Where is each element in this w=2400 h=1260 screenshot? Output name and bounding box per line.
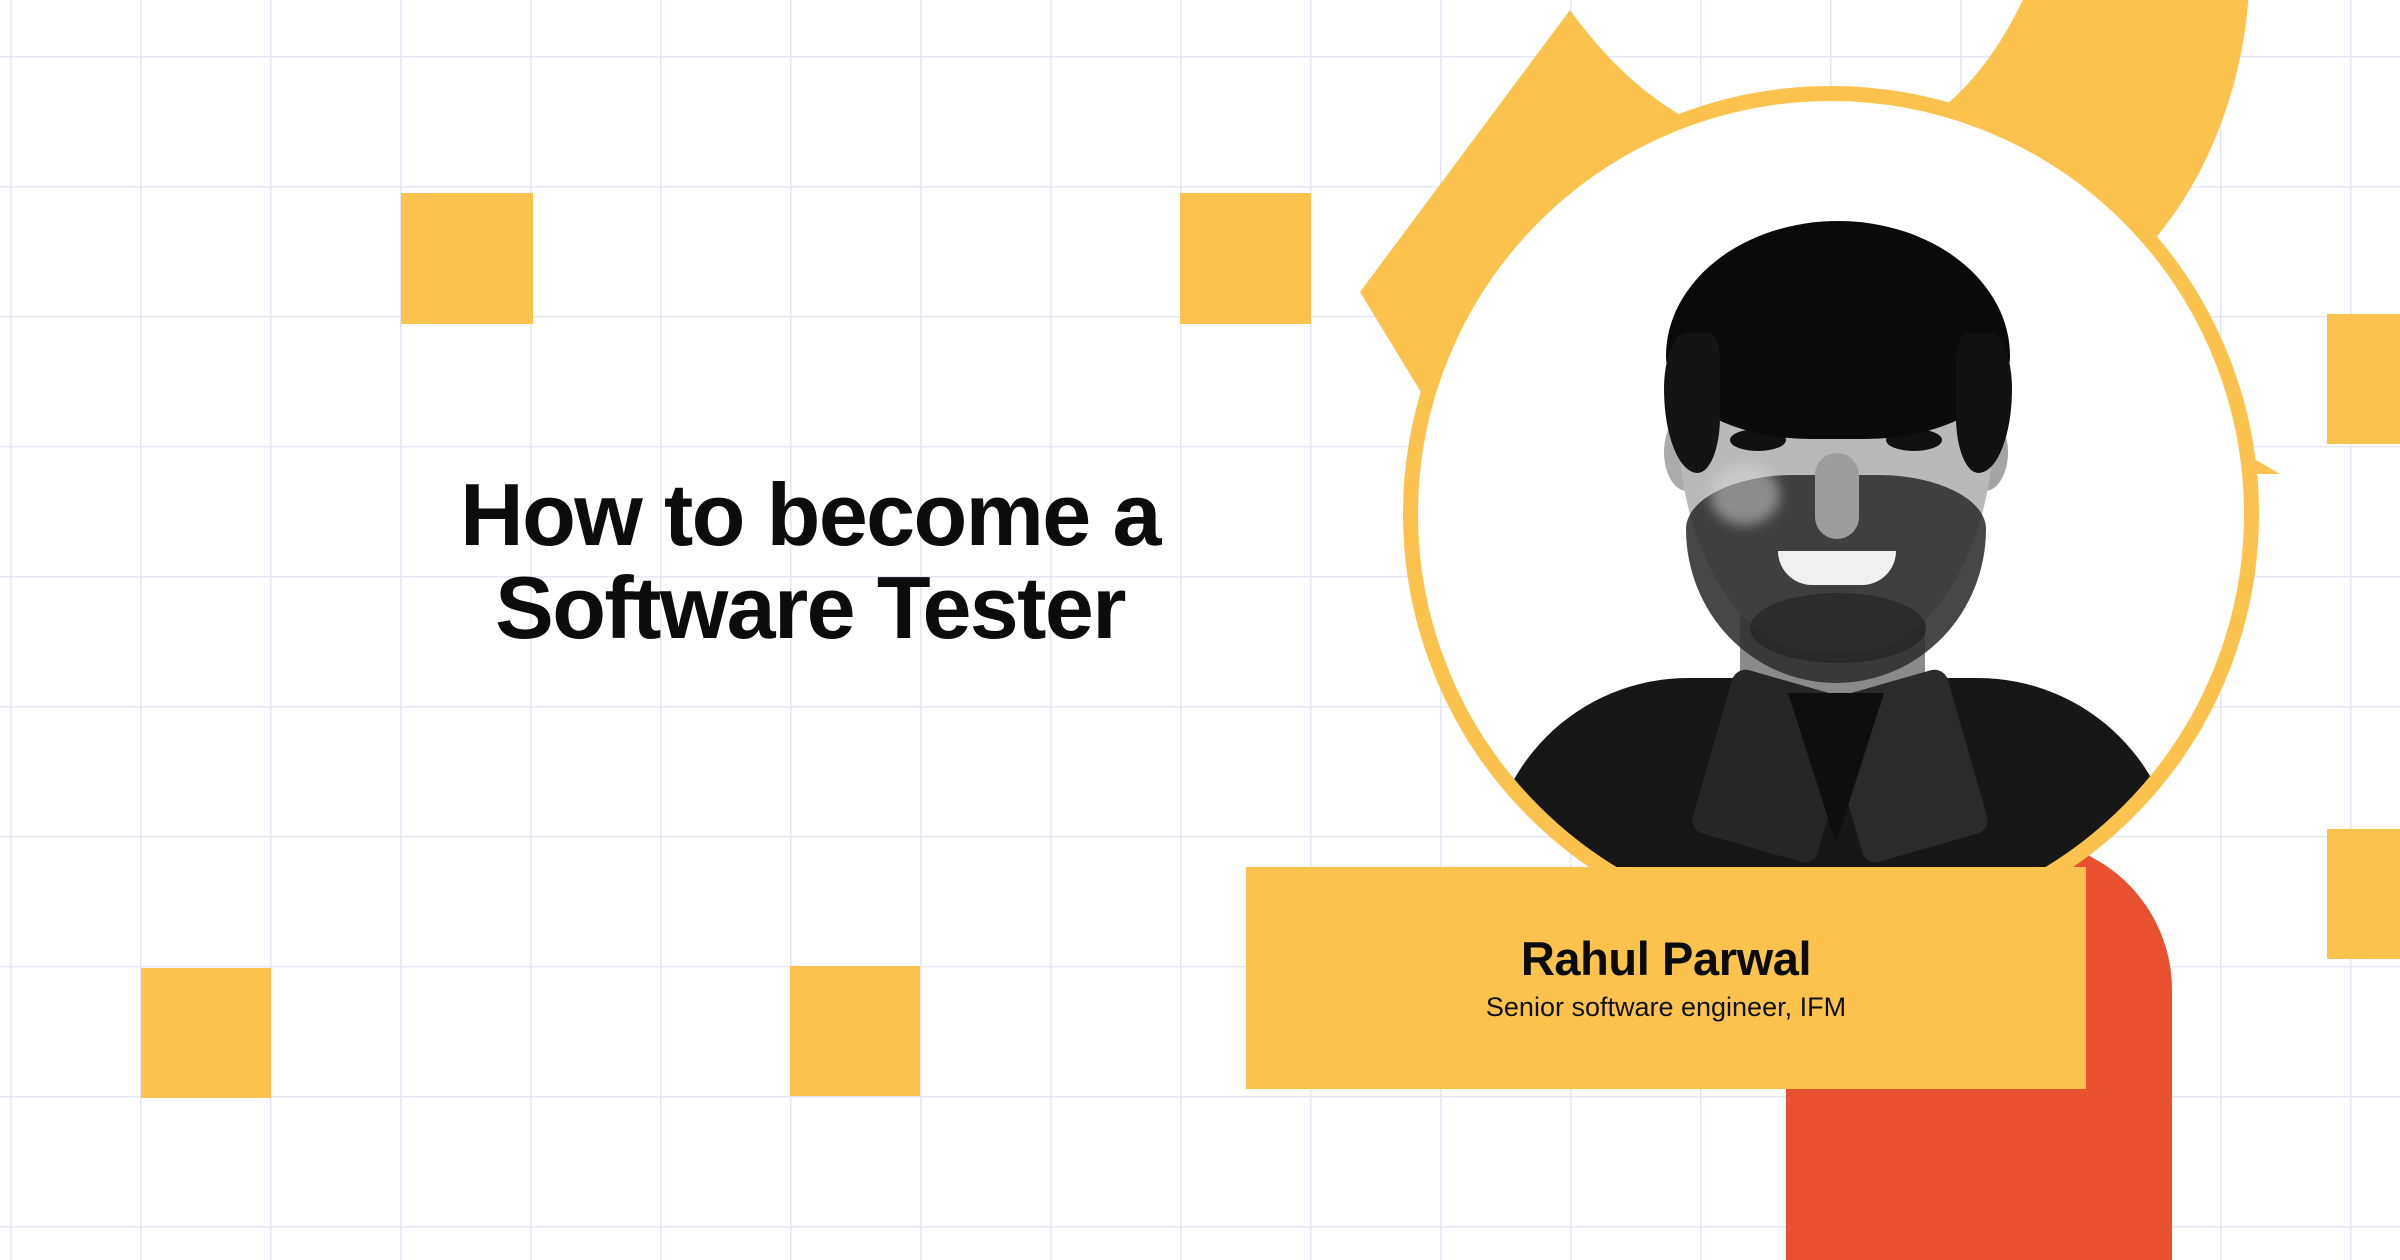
decor-square-top-left bbox=[401, 193, 533, 324]
title-card: How to become a Software Tester bbox=[0, 0, 2400, 1260]
avatar bbox=[1403, 86, 2259, 867]
speaker-role: Senior software engineer, IFM bbox=[1486, 994, 1846, 1021]
decor-square-bottom-mid bbox=[790, 966, 920, 1096]
speaker-card: Rahul Parwal Senior software engineer, I… bbox=[1240, 0, 2400, 1260]
decor-square-bottom-left bbox=[141, 968, 271, 1098]
page-title: How to become a Software Tester bbox=[330, 468, 1290, 655]
speaker-banner: Rahul Parwal Senior software engineer, I… bbox=[1246, 867, 2086, 1089]
avatar-ring bbox=[1403, 86, 2259, 867]
speaker-name: Rahul Parwal bbox=[1521, 935, 1811, 982]
